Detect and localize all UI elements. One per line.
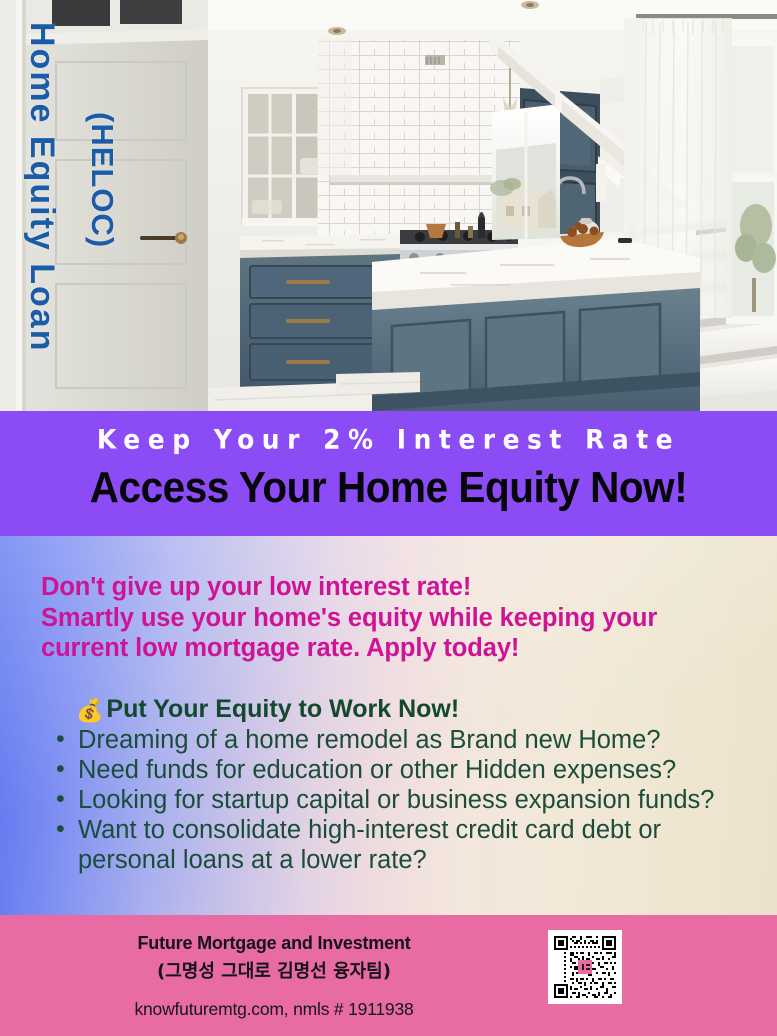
list-item: Want to consolidate high-interest credit…	[52, 815, 764, 875]
footer-bar: Future Mortgage and Investment (그명성 그대로 …	[0, 915, 777, 1036]
footer-company-name: Future Mortgage and Investment	[0, 933, 548, 954]
body-section: Don't give up your low interest rate! Sm…	[0, 536, 777, 915]
list-item: Dreaming of a home remodel as Brand new …	[52, 725, 764, 755]
qr-code[interactable]	[548, 930, 622, 1004]
equity-heading: 💰Put Your Equity to Work Now!	[76, 695, 459, 724]
overlay-text-heloc: (HELOC)	[84, 112, 120, 248]
lead-paragraph: Don't give up your low interest rate! Sm…	[41, 572, 731, 664]
footer-company-name-korean: (그명성 그대로 김명선 융자팀)	[0, 957, 548, 983]
banner-headline: Access Your Home Equity Now!	[31, 463, 746, 513]
overlay-text-home-equity-loan: Home Equity Loan	[22, 22, 61, 352]
heloc-flyer: Home Equity Loan (HELOC) Keep Your 2% In…	[0, 0, 777, 1036]
lead-line-3: current low mortgage rate. Apply today!	[41, 633, 731, 664]
money-bag-icon: 💰	[76, 698, 103, 723]
list-item: Looking for startup capital or business …	[52, 785, 764, 815]
benefits-list: Dreaming of a home remodel as Brand new …	[52, 725, 764, 875]
purple-banner: Keep Your 2% Interest Rate Access Your H…	[0, 411, 777, 536]
lead-line-2: Smartly use your home's equity while kee…	[41, 603, 731, 634]
banner-kicker: Keep Your 2% Interest Rate	[0, 424, 777, 454]
list-item: Need funds for education or other Hidden…	[52, 755, 764, 785]
footer-contact-info: knowfuturemtg.com, nmls # 1911938	[0, 999, 548, 1020]
equity-heading-label: Put Your Equity to Work Now!	[106, 695, 459, 723]
lead-line-1: Don't give up your low interest rate!	[41, 572, 731, 603]
